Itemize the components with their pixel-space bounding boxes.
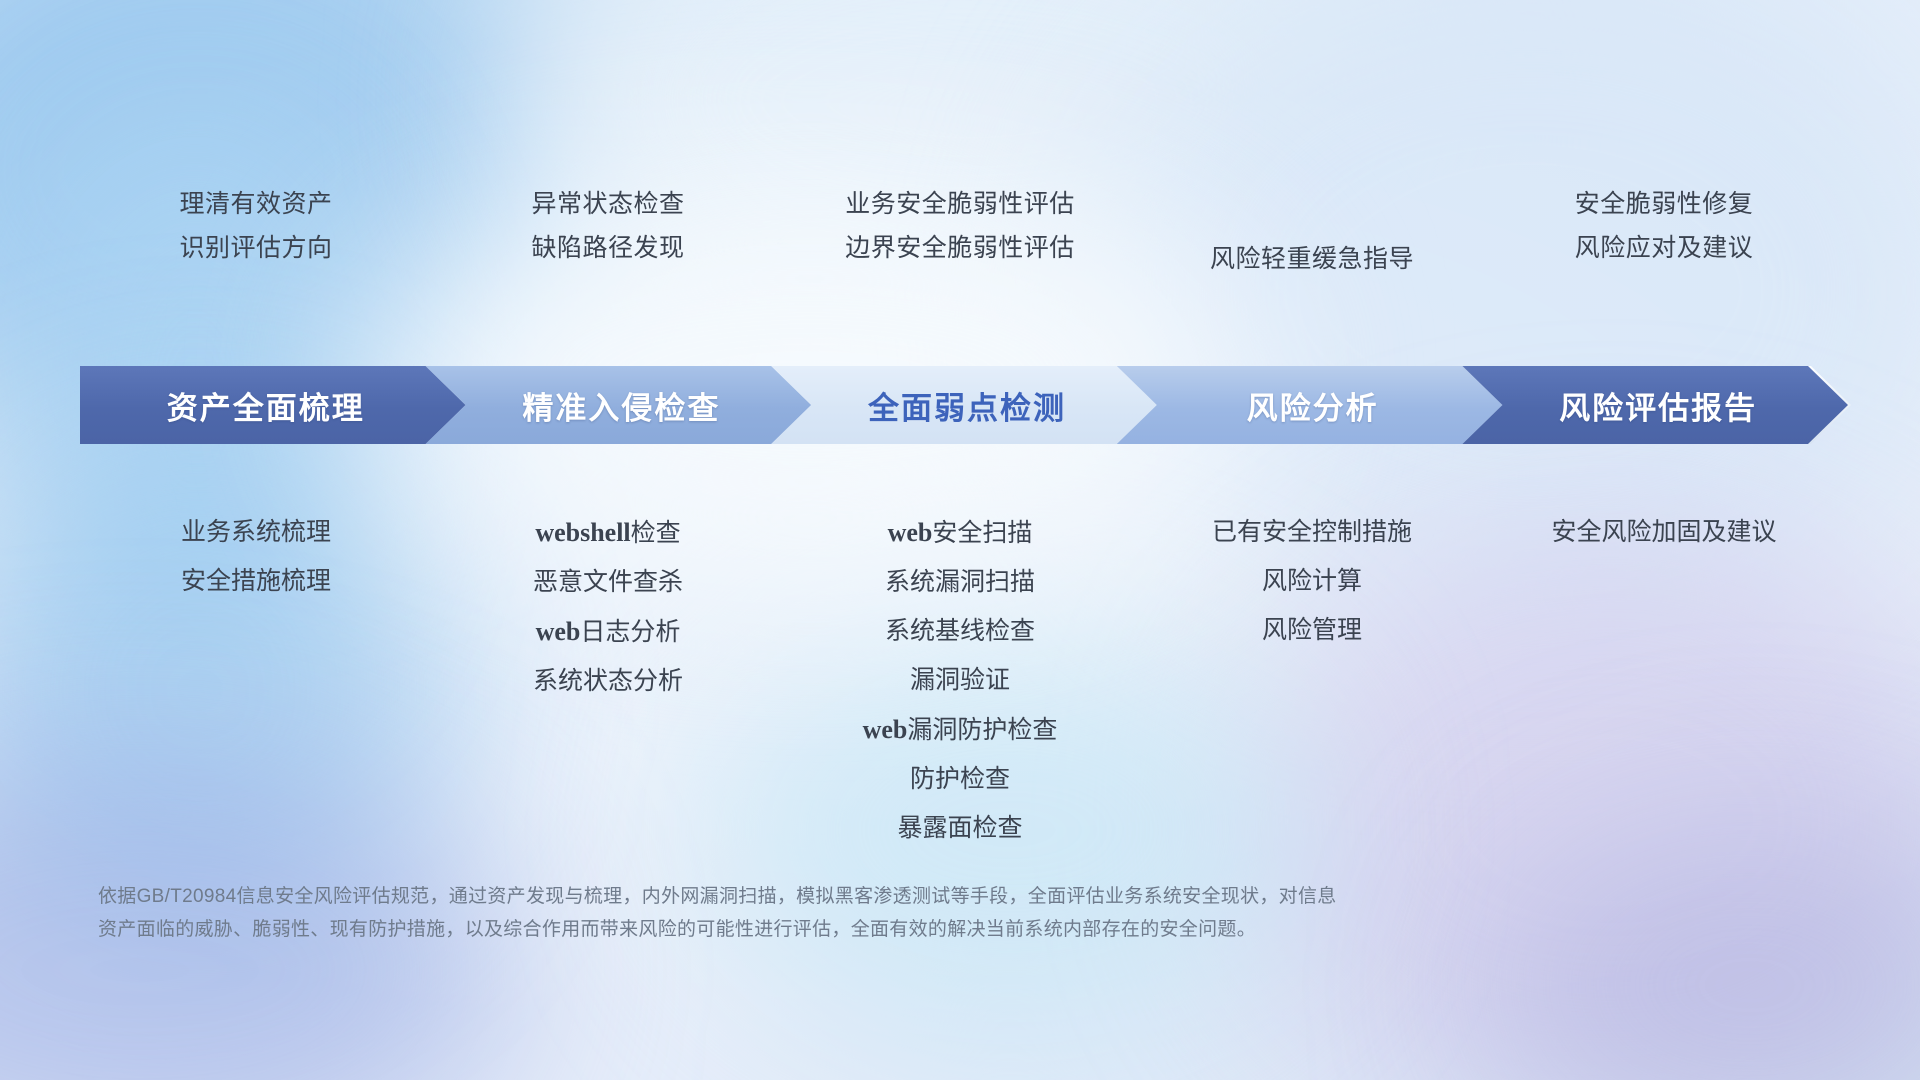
top-annotation-item: 缺陷路径发现 (531, 226, 684, 270)
detail-item-cjk: 安全扫描 (932, 519, 1032, 547)
stage-chevron-5[interactable]: 风险评估报告 (1462, 366, 1848, 444)
top-annotation-item: 安全脆弱性修复 (1575, 182, 1754, 226)
detail-column-5: 安全风险加固及建议 (1488, 508, 1840, 557)
footer-line-2: 资产面临的威胁、脆弱性、现有防护措施，以及综合作用而带来风险的可能性进行评估，全… (98, 913, 1658, 946)
detail-item-cjk: 检查 (631, 519, 681, 547)
detail-item: 漏洞验证 (910, 656, 1010, 705)
detail-item: 业务系统梳理 (181, 508, 331, 557)
top-annotation-item: 异常状态检查 (531, 182, 684, 226)
detail-item: 暴露面检查 (897, 804, 1022, 853)
detail-column-2: webshell检查恶意文件查杀web日志分析系统状态分析 (432, 508, 784, 706)
detail-item-latin: web (536, 617, 581, 646)
detail-item-cjk: 漏洞防护检查 (907, 716, 1057, 744)
bottom-detail-row: 业务系统梳理安全措施梳理webshell检查恶意文件查杀web日志分析系统状态分… (80, 508, 1840, 853)
detail-item-latin: webshell (535, 518, 630, 547)
detail-item-latin: web (863, 715, 908, 744)
top-annotation-item: 识别评估方向 (179, 226, 332, 270)
detail-item: web日志分析 (536, 607, 681, 657)
footer-line-1: 依据GB/T20984信息安全风险评估规范，通过资产发现与梳理，内外网漏洞扫描，… (98, 880, 1658, 913)
detail-column-1: 业务系统梳理安全措施梳理 (80, 508, 432, 606)
detail-item: 系统状态分析 (533, 657, 683, 706)
detail-item: 恶意文件查杀 (533, 558, 683, 607)
detail-item-cjk: 日志分析 (580, 618, 680, 646)
stage-label: 风险分析 (1247, 383, 1379, 428)
detail-column-3: web安全扫描系统漏洞扫描系统基线检查漏洞验证web漏洞防护检查防护检查暴露面检… (784, 508, 1136, 853)
stage-chevron-2[interactable]: 精准入侵检查 (426, 366, 812, 444)
detail-item: 系统基线检查 (885, 607, 1035, 656)
stage-chevron-band: 资产全面梳理精准入侵检查全面弱点检测风险分析风险评估报告 (80, 366, 1848, 444)
top-annotation-item: 业务安全脆弱性评估 (845, 182, 1075, 226)
top-annotation-column-5: 安全脆弱性修复风险应对及建议 (1488, 182, 1840, 292)
top-annotation-column-1: 理清有效资产识别评估方向 (80, 182, 432, 292)
detail-item: 已有安全控制措施 (1212, 508, 1412, 557)
footer-description: 依据GB/T20984信息安全风险评估规范，通过资产发现与梳理，内外网漏洞扫描，… (98, 880, 1658, 946)
top-annotation-item: 风险应对及建议 (1575, 226, 1754, 270)
top-annotation-item: 风险轻重缓急指导 (1210, 237, 1414, 281)
detail-item: 风险管理 (1262, 606, 1362, 655)
detail-item: 安全风险加固及建议 (1551, 508, 1776, 557)
detail-item-latin: web (888, 518, 933, 547)
top-annotation-item: 边界安全脆弱性评估 (845, 226, 1075, 270)
stage-chevron-1[interactable]: 资产全面梳理 (80, 366, 466, 444)
top-annotation-column-3: 业务安全脆弱性评估边界安全脆弱性评估 (784, 182, 1136, 292)
top-annotation-item: 理清有效资产 (179, 182, 332, 226)
top-annotation-column-2: 异常状态检查缺陷路径发现 (432, 182, 784, 292)
detail-item: 防护检查 (910, 755, 1010, 804)
top-annotations-row: 理清有效资产识别评估方向异常状态检查缺陷路径发现业务安全脆弱性评估边界安全脆弱性… (80, 182, 1840, 292)
stage-label: 全面弱点检测 (868, 383, 1066, 428)
detail-item: 安全措施梳理 (181, 557, 331, 606)
detail-item: web漏洞防护检查 (863, 705, 1058, 755)
stage-chevron-4[interactable]: 风险分析 (1117, 366, 1503, 444)
stage-label: 风险评估报告 (1559, 383, 1757, 428)
detail-item: webshell检查 (535, 508, 680, 558)
top-annotation-column-4: 风险轻重缓急指导 (1136, 182, 1488, 292)
detail-item: web安全扫描 (888, 508, 1033, 558)
detail-column-4: 已有安全控制措施风险计算风险管理 (1136, 508, 1488, 655)
stage-chevron-3[interactable]: 全面弱点检测 (771, 366, 1157, 444)
stage-label: 精准入侵检查 (522, 383, 720, 428)
detail-item: 风险计算 (1262, 557, 1362, 606)
detail-item: 系统漏洞扫描 (885, 558, 1035, 607)
stage-label: 资产全面梳理 (167, 383, 365, 428)
process-diagram: 理清有效资产识别评估方向异常状态检查缺陷路径发现业务安全脆弱性评估边界安全脆弱性… (0, 0, 1920, 1080)
